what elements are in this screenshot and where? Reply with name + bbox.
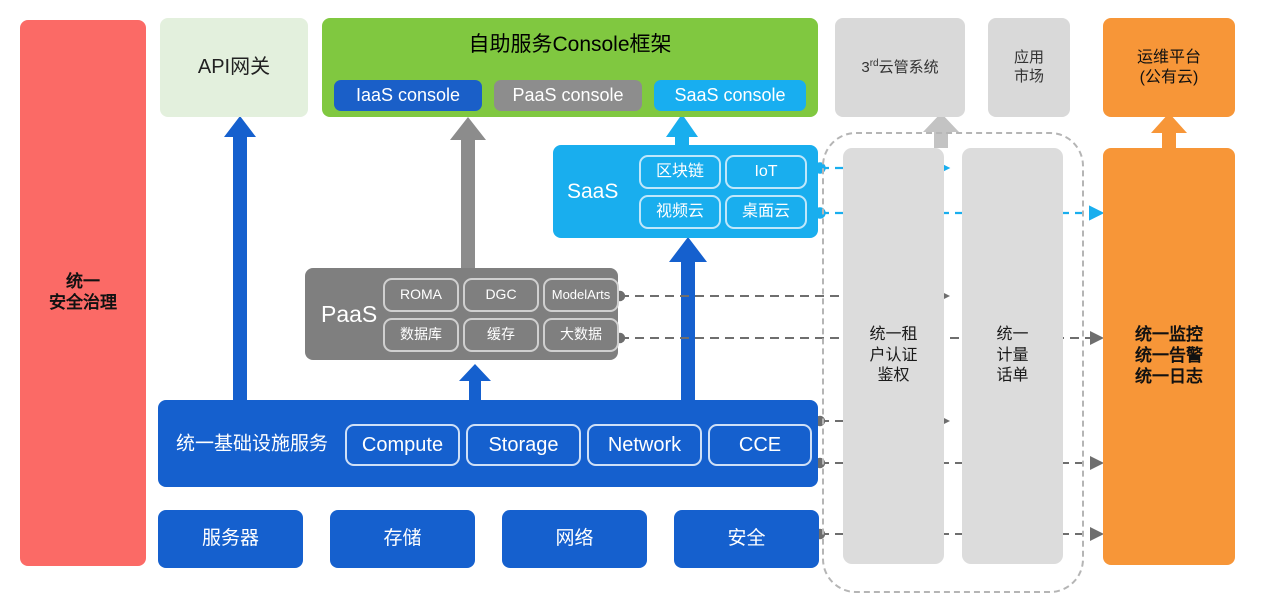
shared-column-metering-line3: 话单	[996, 367, 1028, 384]
saas-console-pill[interactable]: SaaS console	[654, 80, 806, 111]
paas-chip-database-label: 数据库	[400, 326, 442, 343]
third-party-sup: rd	[870, 58, 879, 69]
shared-column-metering[interactable]: 统一 计量 话单	[962, 148, 1063, 564]
app-market-line1: 应用	[1014, 49, 1044, 66]
resource-box-network[interactable]: 网络	[502, 510, 647, 568]
arrow-paas-to-console	[450, 117, 486, 270]
paas-chip-dgc[interactable]: DGC	[463, 278, 539, 312]
governance-line2: 安全治理	[49, 293, 117, 312]
app-market-line2: 市场	[1014, 68, 1044, 85]
console-framework-title: 自助服务Console框架	[322, 32, 818, 58]
paas-chip-roma[interactable]: ROMA	[383, 278, 459, 312]
infra-chip-cce-label: CCE	[739, 433, 781, 457]
paas-chip-bigdata[interactable]: 大数据	[543, 318, 619, 352]
infra-chip-network[interactable]: Network	[587, 424, 702, 466]
ops-column-line1: 统一监控	[1135, 325, 1203, 344]
saas-label: SaaS	[567, 179, 618, 205]
paas-chip-modelarts[interactable]: ModelArts	[543, 278, 619, 312]
iaas-console-label: IaaS console	[356, 85, 460, 107]
infra-chip-storage[interactable]: Storage	[466, 424, 581, 466]
ops-monitoring-column[interactable]: 统一监控 统一告警 统一日志	[1103, 148, 1235, 565]
saas-chip-desktop-cloud-label: 桌面云	[742, 202, 790, 222]
saas-chip-blockchain-label: 区块链	[656, 162, 704, 182]
saas-chip-iot[interactable]: IoT	[725, 155, 807, 189]
resource-box-storage-label: 存储	[383, 527, 421, 550]
paas-chip-database[interactable]: 数据库	[383, 318, 459, 352]
infra-chip-network-label: Network	[608, 433, 681, 457]
infra-chip-storage-label: Storage	[488, 433, 558, 457]
shared-column-auth[interactable]: 统一租 户认证 鉴权	[843, 148, 944, 564]
paas-chip-roma-label: ROMA	[400, 286, 442, 303]
infrastructure-bar[interactable]: 统一基础设施服务 Compute Storage Network CCE	[158, 400, 818, 487]
resource-box-server[interactable]: 服务器	[158, 510, 303, 568]
resource-box-security-label: 安全	[727, 527, 765, 550]
saas-chip-iot-label: IoT	[754, 162, 777, 182]
arrow-ops-column-to-ops-platform	[1151, 113, 1187, 148]
paas-box[interactable]: PaaS ROMA DGC ModelArts 数据库 缓存 大数据	[305, 268, 618, 360]
ops-platform-line1: 运维平台	[1137, 49, 1201, 66]
paas-label: PaaS	[321, 300, 377, 328]
resource-box-storage[interactable]: 存储	[330, 510, 475, 568]
api-gateway-box[interactable]: API网关	[160, 18, 308, 117]
third-party-cloud-mgmt-box[interactable]: 3rd云管系统	[835, 18, 965, 117]
arrow-infra-to-saas	[669, 237, 707, 402]
paas-chip-dgc-label: DGC	[485, 286, 516, 303]
paas-console-label: PaaS console	[512, 85, 623, 107]
architecture-diagram: 统一租 户认证 鉴权 统一 计量 话单 统一 安全治理 API网关 自助服务Co…	[0, 0, 1265, 605]
saas-chip-video-cloud[interactable]: 视频云	[639, 195, 721, 229]
resource-box-network-label: 网络	[555, 527, 593, 550]
shared-column-auth-line3: 鉴权	[877, 367, 909, 384]
arrow-infra-to-apigw	[224, 116, 256, 402]
arrow-infra-to-paas	[459, 364, 491, 400]
saas-box[interactable]: SaaS 区块链 IoT 视频云 桌面云	[553, 145, 818, 238]
app-market-box[interactable]: 应用 市场	[988, 18, 1070, 117]
console-framework-box[interactable]: 自助服务Console框架 IaaS console PaaS console …	[322, 18, 818, 117]
resource-box-server-label: 服务器	[202, 527, 259, 550]
ops-column-line3: 统一日志	[1135, 367, 1203, 386]
shared-column-auth-line2: 户认证	[869, 347, 917, 364]
governance-panel[interactable]: 统一 安全治理	[20, 20, 146, 566]
infra-chip-cce[interactable]: CCE	[708, 424, 812, 466]
ops-platform-line2: (公有云)	[1140, 69, 1199, 86]
third-party-prefix: 3	[861, 59, 869, 76]
infra-chip-compute-label: Compute	[362, 433, 443, 457]
saas-chip-video-cloud-label: 视频云	[656, 202, 704, 222]
paas-chip-bigdata-label: 大数据	[560, 326, 602, 343]
resource-box-security[interactable]: 安全	[674, 510, 819, 568]
arrow-saas-to-console	[666, 114, 698, 148]
paas-chip-modelarts-label: ModelArts	[552, 287, 611, 303]
paas-chip-cache[interactable]: 缓存	[463, 318, 539, 352]
shared-column-auth-line1: 统一租	[869, 326, 917, 343]
api-gateway-label: API网关	[198, 55, 270, 79]
saas-chip-blockchain[interactable]: 区块链	[639, 155, 721, 189]
infra-chip-compute[interactable]: Compute	[345, 424, 460, 466]
iaas-console-pill[interactable]: IaaS console	[334, 80, 482, 111]
governance-line1: 统一	[66, 272, 100, 291]
paas-console-pill[interactable]: PaaS console	[494, 80, 642, 111]
saas-console-label: SaaS console	[674, 85, 785, 107]
shared-column-metering-line2: 计量	[996, 347, 1028, 364]
ops-platform-box[interactable]: 运维平台 (公有云)	[1103, 18, 1235, 117]
ops-column-line2: 统一告警	[1135, 346, 1203, 365]
paas-chip-cache-label: 缓存	[487, 326, 515, 343]
infrastructure-label: 统一基础设施服务	[176, 432, 328, 455]
saas-chip-desktop-cloud[interactable]: 桌面云	[725, 195, 807, 229]
third-party-suffix: 云管系统	[879, 59, 939, 76]
shared-column-metering-line1: 统一	[996, 326, 1028, 343]
